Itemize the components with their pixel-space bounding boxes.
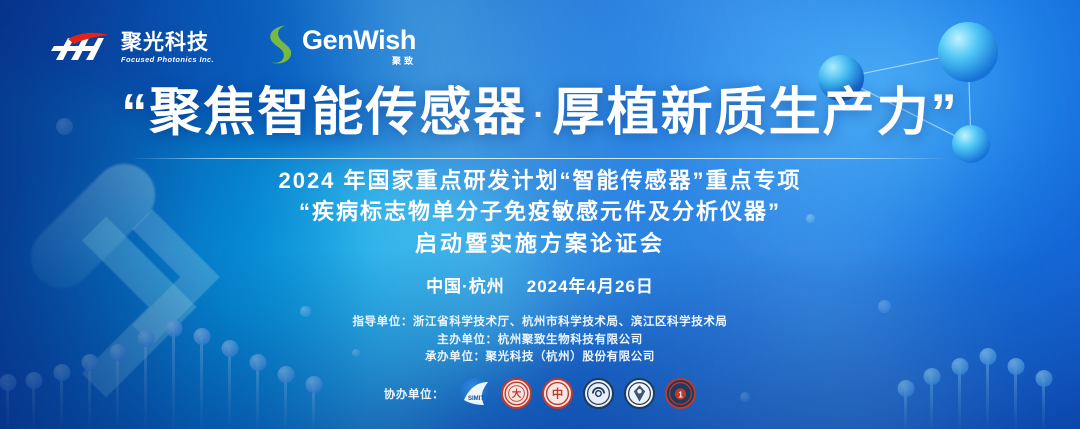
svg-text:大: 大 <box>512 388 522 400</box>
banner-subtitle: 2024 年国家重点研发计划“智能传感器”重点专项 “疾病标志物单分子免疫敏感元… <box>0 166 1080 260</box>
subtitle-line-2: “疾病标志物单分子免疫敏感元件及分析仪器” <box>0 196 1080 228</box>
subtitle-line-3: 启动暨实施方案论证会 <box>0 228 1080 260</box>
genwish-logo[interactable]: GenWish 聚致 <box>264 22 416 71</box>
banner-title: “聚焦智能传感器·厚植新质生产力” <box>0 86 1080 141</box>
institute-seal-dark-3-icon: 1 <box>665 378 696 409</box>
svg-text:SIMIT: SIMIT <box>468 396 484 402</box>
title-left: 聚焦智能传感器 <box>149 84 527 142</box>
university-seal-red-1-icon: 大 <box>501 378 532 409</box>
fpi-logo-en: Focused Photonics Inc. <box>121 56 214 64</box>
fpi-swoosh-icon <box>50 30 112 64</box>
title-divider <box>130 158 950 159</box>
genwish-leaf-icon <box>264 22 294 71</box>
credit-guidance: 指导单位：浙江省科学技术厅、杭州市科学技术局、滨江区科学技术局 <box>0 314 1080 332</box>
simit-seal-icon: SIMIT <box>460 378 491 409</box>
institute-seal-dark-2-icon <box>624 378 655 409</box>
event-location: 中国·杭州 <box>426 277 505 296</box>
fpi-logo[interactable]: 聚光科技 Focused Photonics Inc. <box>50 30 214 64</box>
genwish-logo-en: GenWish <box>302 27 416 54</box>
credit-host: 主办单位：杭州聚致生物科技有限公司 <box>0 332 1080 350</box>
title-right: 厚植新质生产力 <box>553 84 931 142</box>
subtitle-line-1: 2024 年国家重点研发计划“智能传感器”重点专项 <box>0 166 1080 196</box>
title-close-quote: ” <box>931 84 959 142</box>
place-and-date: 中国·杭州2024年4月26日 <box>0 272 1080 297</box>
fpi-logo-cn: 聚光科技 <box>121 32 214 53</box>
co-organizer-row: 协办单位： SIMIT 大 中 <box>0 378 1080 409</box>
institute-seal-dark-1-icon <box>583 378 614 409</box>
logo-bar: 聚光科技 Focused Photonics Inc. GenWish 聚致 <box>50 22 416 71</box>
conference-banner: 聚光科技 Focused Photonics Inc. GenWish 聚致 “… <box>0 0 1080 429</box>
credit-organizer: 承办单位：聚光科技（杭州）股份有限公司 <box>0 349 1080 367</box>
co-organizer-label: 协办单位： <box>384 386 445 402</box>
svg-text:中: 中 <box>552 386 563 400</box>
genwish-logo-cn: 聚致 <box>392 57 416 66</box>
svg-text:1: 1 <box>679 390 684 399</box>
organizer-credits: 指导单位：浙江省科学技术厅、杭州市科学技术局、滨江区科学技术局 主办单位：杭州聚… <box>0 314 1080 367</box>
event-date: 2024年4月26日 <box>527 277 654 296</box>
title-open-quote: “ <box>121 84 149 142</box>
university-seal-red-2-icon: 中 <box>542 378 573 409</box>
title-middle-dot: · <box>527 96 552 134</box>
